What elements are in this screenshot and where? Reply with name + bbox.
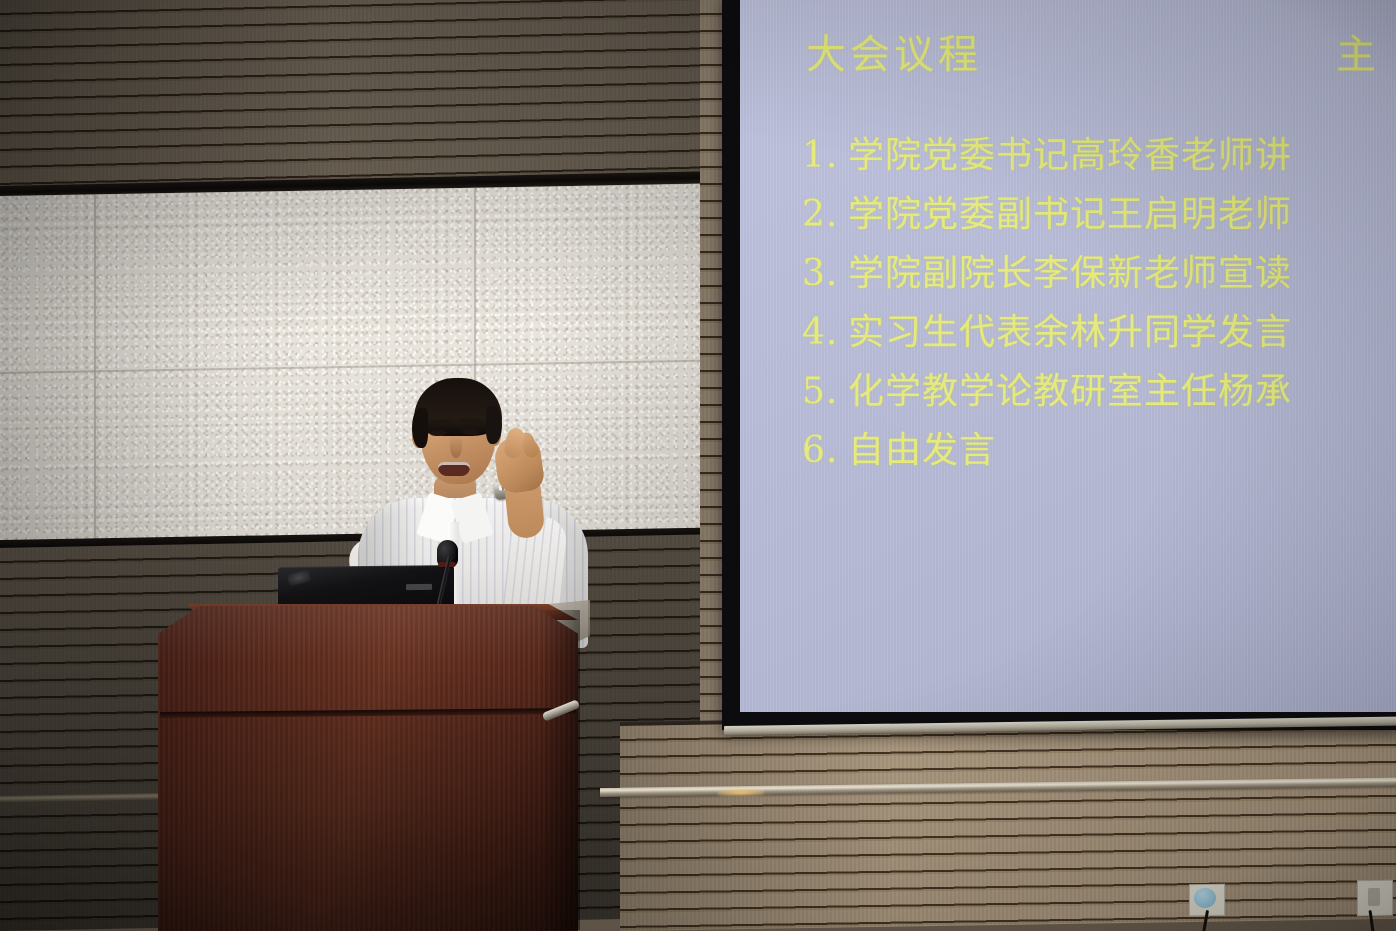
speaker-mouth	[438, 462, 470, 476]
agenda-item: 6.自由发言	[802, 421, 1396, 480]
agenda-item-number: 4.	[802, 303, 848, 362]
wall-panel-seam	[94, 194, 96, 544]
agenda-item-number: 3.	[802, 244, 848, 303]
speaker-hair-side-right	[486, 406, 502, 444]
lower-right-slat-wall	[620, 714, 1396, 931]
presentation-photo-scene: 大会议程 主 1.学院党委书记高玲香老师讲 2.学院党委副书记王启明老师 3.学…	[0, 0, 1396, 931]
agenda-item-text: 学院党委副书记王启明老师	[848, 194, 1292, 235]
slide-title: 大会议程	[806, 22, 982, 80]
agenda-item: 3.学院副院长李保新老师宣读	[802, 244, 1396, 303]
laptop-logo	[406, 584, 432, 590]
agenda-item-number: 6.	[802, 421, 848, 480]
agenda-item-text: 自由发言	[848, 430, 996, 471]
agenda-item-text: 实习生代表余林升同学发言	[848, 312, 1292, 353]
agenda-item: 2.学院党委副书记王启明老师	[802, 185, 1396, 244]
agenda-item-number: 1.	[802, 126, 848, 185]
projection-screen: 大会议程 主 1.学院党委书记高玲香老师讲 2.学院党委副书记王启明老师 3.学…	[740, 0, 1396, 712]
presentation-slide: 大会议程 主 1.学院党委书记高玲香老师讲 2.学院党委副书记王启明老师 3.学…	[740, 0, 1396, 712]
agenda-item-text: 化学教学论教研室主任杨承	[848, 371, 1292, 412]
slide-title-row: 大会议程	[806, 22, 1396, 80]
agenda-item-text: 学院副院长李保新老师宣读	[848, 253, 1292, 294]
speaker-hair-side-left	[412, 408, 428, 448]
power-outlet-socket-icon	[1368, 888, 1380, 906]
podium	[158, 606, 578, 931]
upper-slat-wall-panel	[0, 0, 740, 192]
slide-agenda-list: 1.学院党委书记高玲香老师讲 2.学院党委副书记王启明老师 3.学院副院长李保新…	[802, 126, 1396, 480]
agenda-item-number: 2.	[802, 185, 848, 244]
agenda-item: 4.实习生代表余林升同学发言	[802, 303, 1396, 362]
podium-right-shadow	[540, 610, 580, 930]
agenda-item: 1.学院党委书记高玲香老师讲	[802, 126, 1396, 185]
speaker-nose	[450, 436, 462, 458]
trim-light-reflection	[718, 789, 764, 797]
agenda-item-text: 学院党委书记高玲香老师讲	[848, 135, 1292, 176]
slide-host-label: 主	[1336, 22, 1380, 80]
agenda-item: 5.化学教学论教研室主任杨承	[802, 362, 1396, 421]
agenda-item-number: 5.	[802, 362, 848, 421]
